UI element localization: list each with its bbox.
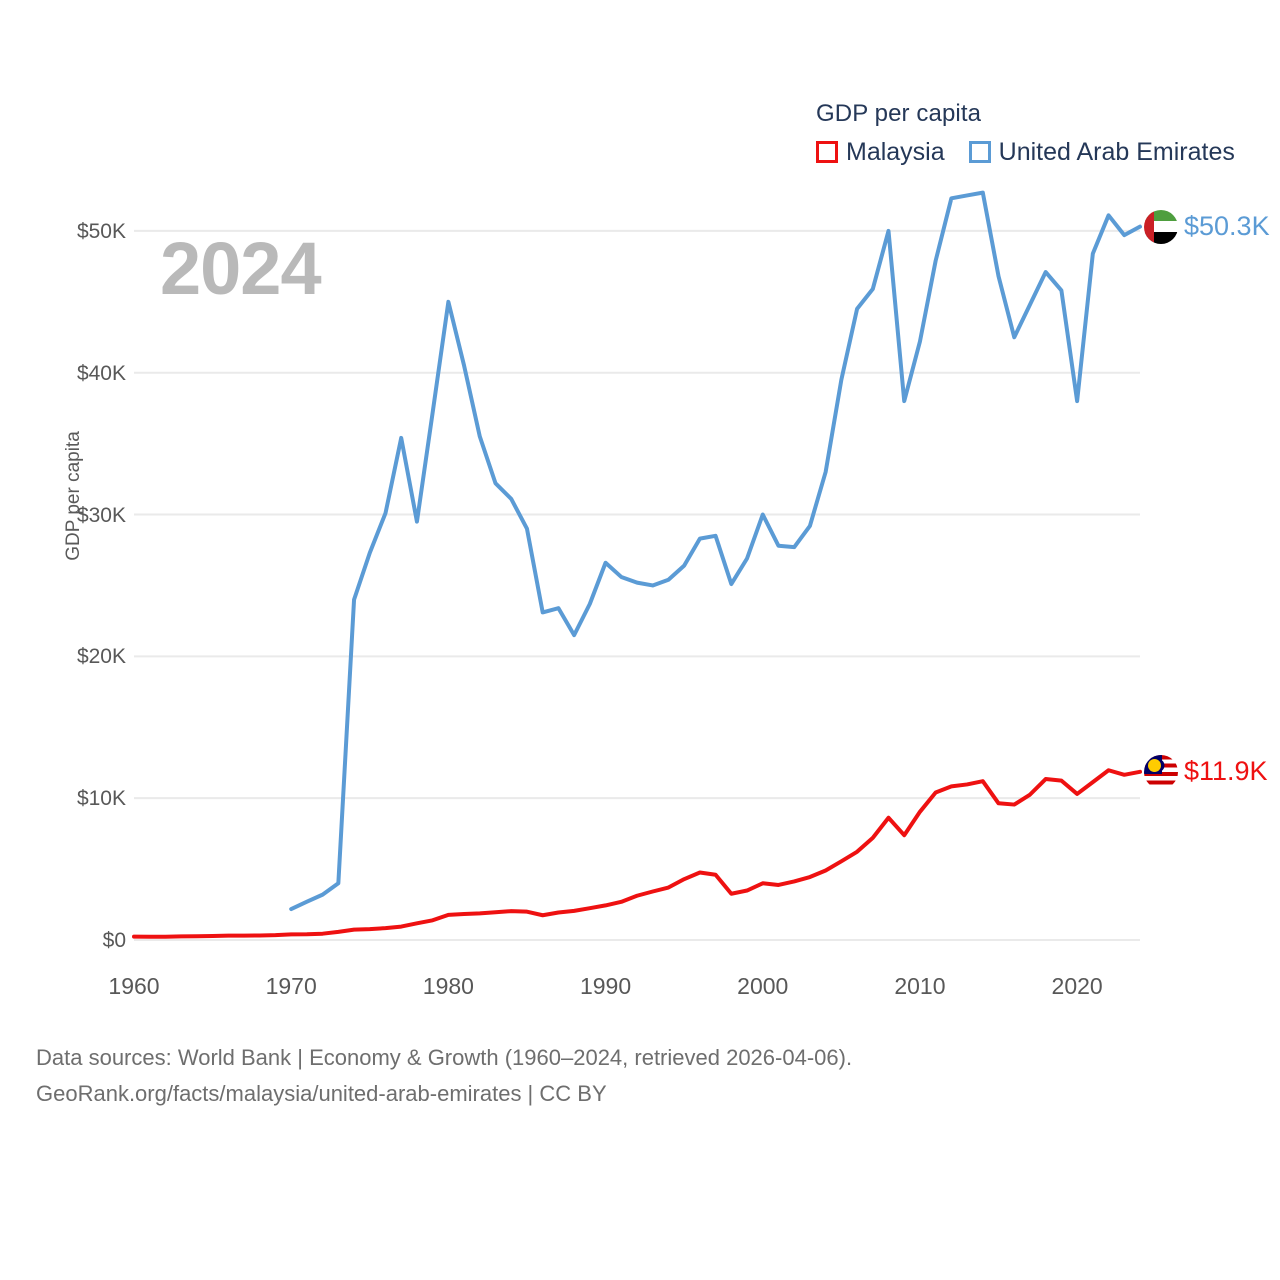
y-axis-tick-label: $40K xyxy=(6,363,126,384)
x-axis-tick-label: 1970 xyxy=(266,975,317,998)
series-line-malaysia xyxy=(134,770,1140,937)
malaysia-end-value: $11.9K xyxy=(1184,758,1268,785)
x-axis-tick-label: 2020 xyxy=(1052,975,1103,998)
gdp-per-capita-chart: GDP per capita Malaysia United Arab Emir… xyxy=(0,0,1280,1280)
x-axis-tick-label: 2000 xyxy=(737,975,788,998)
gridlines xyxy=(134,231,1140,940)
uae-end-value: $50.3K xyxy=(1184,213,1270,240)
plot-svg xyxy=(134,160,1140,940)
y-axis-tick-label: $20K xyxy=(6,646,126,667)
ae-flag-icon xyxy=(1144,210,1178,244)
x-axis-tick-label: 1980 xyxy=(423,975,474,998)
x-axis-tick-label: 2010 xyxy=(894,975,945,998)
chart-legend: GDP per capita Malaysia United Arab Emir… xyxy=(816,100,1235,166)
footer-line-sources: Data sources: World Bank | Economy & Gro… xyxy=(36,1040,1236,1076)
legend-title: GDP per capita xyxy=(816,100,1235,128)
y-axis-tick-label: $0 xyxy=(6,930,126,951)
series-line-united-arab-emirates xyxy=(291,193,1140,909)
my-flag-icon xyxy=(1144,755,1178,789)
malaysia-end-label: $11.9K xyxy=(1144,755,1268,789)
footer-line-attribution: GeoRank.org/facts/malaysia/united-arab-e… xyxy=(36,1076,1236,1112)
x-axis-tick-label: 1960 xyxy=(108,975,159,998)
y-axis-ticks: $50K$40K$30K$20K$10K$0 xyxy=(0,0,126,1000)
series-lines xyxy=(134,193,1140,937)
x-axis-tick-label: 1990 xyxy=(580,975,631,998)
footer: Data sources: World Bank | Economy & Gro… xyxy=(36,1040,1236,1112)
plot-area xyxy=(134,160,1140,940)
uae-end-label: $50.3K xyxy=(1144,210,1270,244)
y-axis-tick-label: $50K xyxy=(6,221,126,242)
y-axis-tick-label: $10K xyxy=(6,788,126,809)
y-axis-tick-label: $30K xyxy=(6,505,126,526)
